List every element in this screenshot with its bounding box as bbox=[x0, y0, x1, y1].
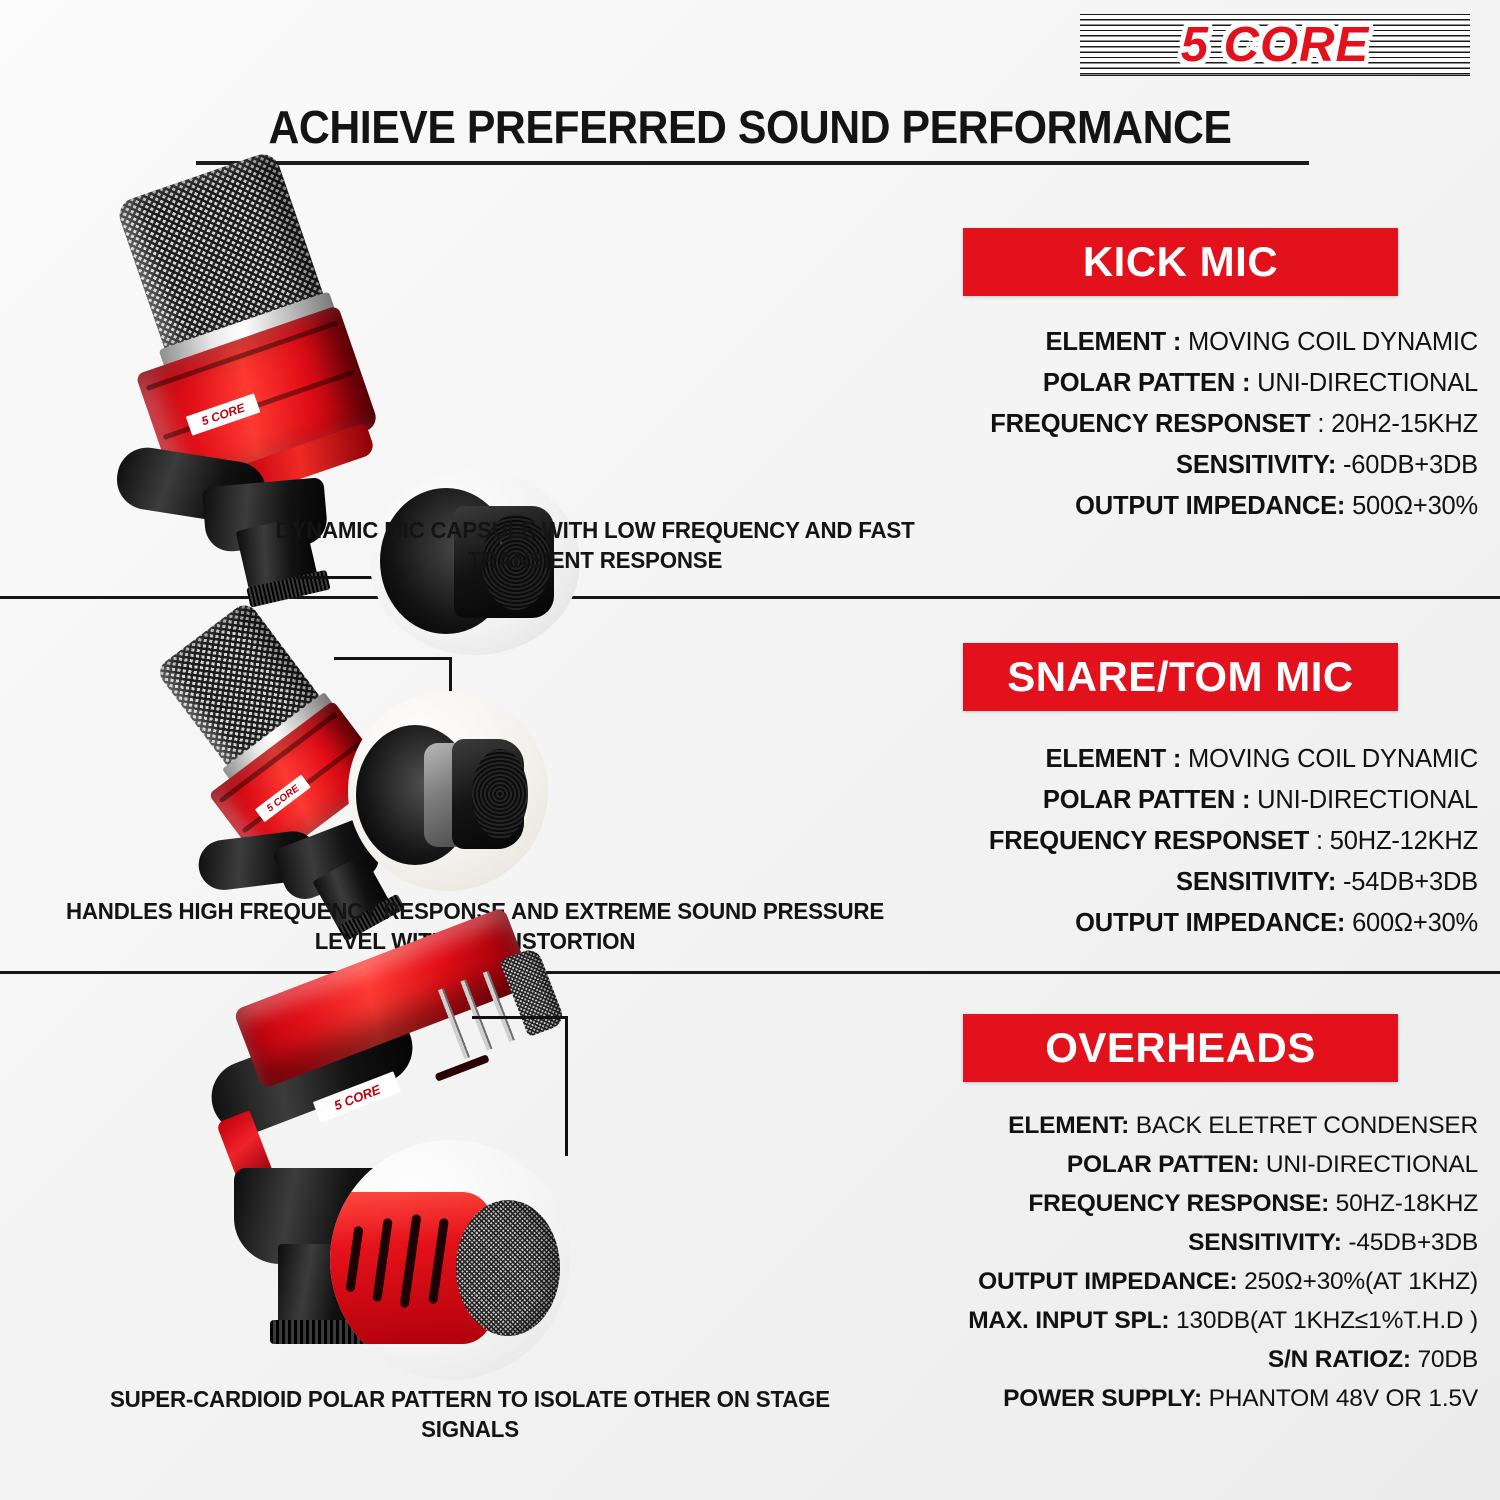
overhead-mic-visual: 5 CORE SUPER-CARD bbox=[0, 974, 935, 1500]
badge-kick-mic: KICK MIC bbox=[963, 228, 1398, 296]
capsule-vent-slot bbox=[372, 1218, 393, 1302]
spec-value: : 50HZ-12KHZ bbox=[1316, 827, 1478, 855]
spec-row: SENSITIVITY: -45DB+3DB bbox=[968, 1223, 1478, 1262]
spec-row: ELEMENT : MOVING COIL DYNAMIC bbox=[989, 739, 1478, 780]
spec-label: SENSITIVITY: bbox=[1176, 451, 1336, 479]
spec-value: 130DB(AT 1KHZ≤1%T.H.D ) bbox=[1176, 1307, 1478, 1334]
section-kick-mic: 5 CORE DYNAMIC MIC CAPSULE WITH LOW FREQ… bbox=[0, 170, 1500, 596]
spec-row: OUTPUT IMPEDANCE: 600Ω+30% bbox=[989, 903, 1478, 944]
spec-label: ELEMENT : bbox=[1046, 328, 1182, 356]
spec-row: FREQUENCY RESPONSE: 50HZ-18KHZ bbox=[968, 1184, 1478, 1223]
brand-logo: 5 CORE bbox=[1080, 14, 1470, 76]
badge-snare-tom-mic: SNARE/TOM MIC bbox=[963, 643, 1398, 711]
spec-value: MOVING COIL DYNAMIC bbox=[1188, 328, 1478, 356]
spec-label: SENSITIVITY: bbox=[1176, 868, 1336, 896]
spec-value: PHANTOM 48V OR 1.5V bbox=[1209, 1385, 1478, 1412]
overhead-spec-panel: OVERHEADS ELEMENT: BACK ELETRET CONDENSE… bbox=[935, 974, 1500, 1500]
capsule-mesh-tip bbox=[456, 1200, 560, 1336]
spec-label: S/N RATIOZ: bbox=[1268, 1346, 1411, 1373]
spec-value: 70DB bbox=[1418, 1346, 1479, 1373]
capsule-vent-slot bbox=[400, 1214, 422, 1308]
spec-value: -54DB+3DB bbox=[1343, 868, 1478, 896]
spec-value: UNI-DIRECTIONAL bbox=[1257, 786, 1478, 814]
spec-label: POLAR PATTEN : bbox=[1043, 369, 1250, 397]
spec-value: 500Ω+30% bbox=[1352, 492, 1478, 520]
spec-value: UNI-DIRECTIONAL bbox=[1257, 369, 1478, 397]
spec-label: FREQUENCY RESPONSE: bbox=[1028, 1190, 1329, 1217]
spec-value: BACK ELETRET CONDENSER bbox=[1136, 1112, 1478, 1139]
spec-value: -45DB+3DB bbox=[1348, 1229, 1478, 1256]
badge-overheads: OVERHEADS bbox=[963, 1014, 1398, 1082]
spec-label: POLAR PATTEN: bbox=[1067, 1151, 1259, 1178]
spec-row: FREQUENCY RESPONSET : 20H2-15KHZ bbox=[990, 404, 1478, 445]
overhead-capsule-callout bbox=[330, 1140, 570, 1380]
callout-leader-line bbox=[472, 1016, 568, 1019]
spec-label: FREQUENCY RESPONSET bbox=[989, 827, 1309, 855]
spec-value: MOVING COIL DYNAMIC bbox=[1188, 745, 1478, 773]
snare-spec-panel: SNARE/TOM MIC ELEMENT : MOVING COIL DYNA… bbox=[935, 599, 1500, 971]
section-snare-tom-mic: 5 CORE HANDLES HIGH FREQUENCY RESPONSE A… bbox=[0, 599, 1500, 971]
spec-value: 50HZ-18KHZ bbox=[1336, 1190, 1478, 1217]
callout-leader-line bbox=[565, 1016, 568, 1156]
spec-row: OUTPUT IMPEDANCE: 500Ω+30% bbox=[990, 486, 1478, 527]
spec-row: FREQUENCY RESPONSET : 50HZ-12KHZ bbox=[989, 821, 1478, 862]
section-overheads: 5 CORE SUPER-CARD bbox=[0, 974, 1500, 1500]
capsule-vent-slot bbox=[428, 1218, 449, 1304]
kick-spec-panel: KICK MIC ELEMENT : MOVING COIL DYNAMIC P… bbox=[935, 170, 1500, 596]
callout-leader-line bbox=[334, 657, 452, 660]
spec-label: OUTPUT IMPEDANCE: bbox=[978, 1268, 1237, 1295]
spec-row: OUTPUT IMPEDANCE: 250Ω+30%(AT 1KHZ) bbox=[968, 1262, 1478, 1301]
spec-row: POLAR PATTEN : UNI-DIRECTIONAL bbox=[990, 363, 1478, 404]
kick-caption: DYNAMIC MIC CAPSULE WITH LOW FREQUENCY A… bbox=[226, 515, 963, 575]
callout-disc bbox=[330, 1140, 570, 1380]
spec-value: 600Ω+30% bbox=[1352, 909, 1478, 937]
spec-label: ELEMENT : bbox=[1046, 745, 1182, 773]
spec-value: -60DB+3DB bbox=[1343, 451, 1478, 479]
title-underline bbox=[196, 161, 1309, 165]
callout-leader-line bbox=[296, 576, 376, 579]
snare-spec-list: ELEMENT : MOVING COIL DYNAMIC POLAR PATT… bbox=[989, 739, 1478, 944]
spec-row: MAX. INPUT SPL: 130DB(AT 1KHZ≤1%T.H.D ) bbox=[968, 1301, 1478, 1340]
spec-row: ELEMENT : MOVING COIL DYNAMIC bbox=[990, 322, 1478, 363]
snare-capsule-callout bbox=[348, 691, 548, 891]
callout-disc bbox=[348, 691, 548, 891]
overhead-spec-list: ELEMENT: BACK ELETRET CONDENSER POLAR PA… bbox=[968, 1106, 1478, 1418]
spec-row: S/N RATIOZ: 70DB bbox=[968, 1340, 1478, 1379]
spec-label: POLAR PATTEN : bbox=[1043, 786, 1250, 814]
kick-spec-list: ELEMENT : MOVING COIL DYNAMIC POLAR PATT… bbox=[990, 322, 1478, 527]
logo-wordmark: 5 CORE bbox=[1080, 14, 1470, 76]
spec-label: MAX. INPUT SPL: bbox=[968, 1307, 1169, 1334]
overhead-caption: SUPER-CARDIOID POLAR PATTERN TO ISOLATE … bbox=[87, 1384, 853, 1444]
spec-row: SENSITIVITY: -54DB+3DB bbox=[989, 862, 1478, 903]
spec-value: UNI-DIRECTIONAL bbox=[1266, 1151, 1478, 1178]
spec-value: 250Ω+30%(AT 1KHZ) bbox=[1244, 1268, 1478, 1295]
kick-mic-visual: 5 CORE DYNAMIC MIC CAPSULE WITH LOW FREQ… bbox=[0, 170, 935, 596]
spec-label: POWER SUPPLY: bbox=[1003, 1385, 1202, 1412]
spec-row: POLAR PATTEN : UNI-DIRECTIONAL bbox=[989, 780, 1478, 821]
spec-row: ELEMENT: BACK ELETRET CONDENSER bbox=[968, 1106, 1478, 1145]
spec-row: POLAR PATTEN: UNI-DIRECTIONAL bbox=[968, 1145, 1478, 1184]
spec-label: SENSITIVITY: bbox=[1188, 1229, 1342, 1256]
spec-row: POWER SUPPLY: PHANTOM 48V OR 1.5V bbox=[968, 1379, 1478, 1418]
spec-label: OUTPUT IMPEDANCE: bbox=[1075, 909, 1345, 937]
capsule-diaphragm-face bbox=[472, 749, 528, 839]
snare-mic-visual: 5 CORE HANDLES HIGH FREQUENCY RESPONSE A… bbox=[0, 599, 935, 971]
infographic-page: 5 CORE ACHIEVE PREFERRED SOUND PERFORMAN… bbox=[0, 0, 1500, 1500]
logo-text: 5 CORE bbox=[1181, 17, 1369, 73]
spec-label: OUTPUT IMPEDANCE: bbox=[1075, 492, 1345, 520]
spec-row: SENSITIVITY: -60DB+3DB bbox=[990, 445, 1478, 486]
spec-label: ELEMENT: bbox=[1008, 1112, 1129, 1139]
spec-value: : 20H2-15KHZ bbox=[1317, 410, 1478, 438]
spec-label: FREQUENCY RESPONSET bbox=[990, 410, 1310, 438]
capsule-vent-slot bbox=[345, 1226, 363, 1293]
